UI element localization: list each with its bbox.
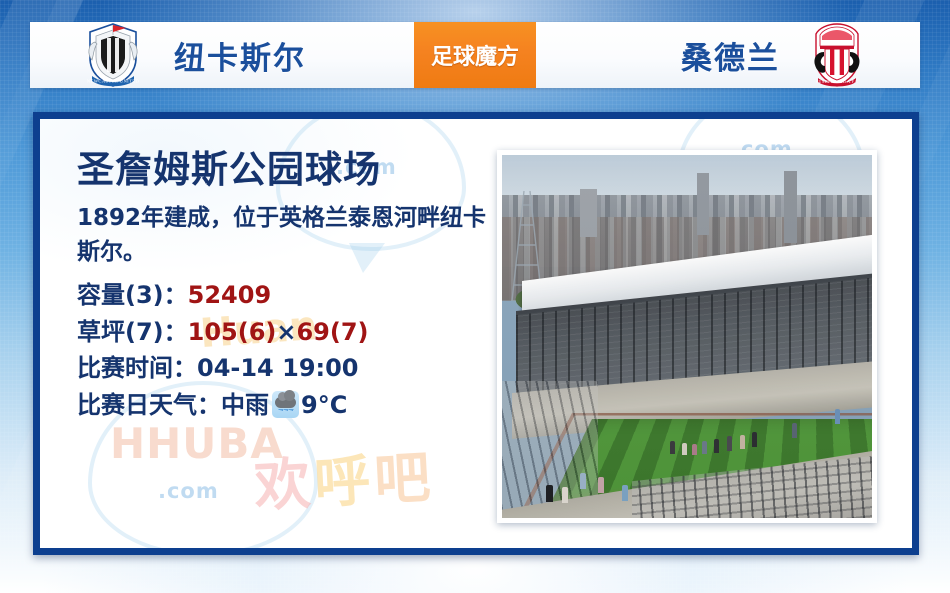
capacity-colon: ： — [164, 277, 188, 313]
newcastle-united-crest-icon: NEWCASTLE UNITED — [82, 22, 144, 88]
pitch-times-sign: × — [276, 314, 296, 350]
match-time-value: 04-14 19:00 — [197, 350, 359, 386]
pitch-row: 草坪(7) ： 105(6) × 69(7) — [77, 314, 497, 350]
moderate-rain-icon — [272, 391, 299, 418]
weather-colon: ： — [197, 387, 221, 423]
stadium-photo-frame: NEWCASTLE UNITED — [497, 150, 877, 523]
home-team-name: 纽卡斯尔 — [174, 33, 306, 78]
watermark-hhuba-text: HHUBA — [110, 419, 284, 468]
watermark-com-bottom: .com — [158, 479, 219, 503]
weather-label: 比赛日天气 — [77, 387, 197, 423]
svg-text:SUNDERLAND A.F.C: SUNDERLAND A.F.C — [816, 79, 858, 84]
svg-text:NEWCASTLE UNITED: NEWCASTLE UNITED — [87, 79, 140, 84]
capacity-label: 容量(3) — [77, 277, 164, 313]
weather-value: 中雨 — [221, 387, 269, 423]
sunderland-afc-crest-icon: SUNDERLAND A.F.C — [806, 22, 868, 88]
match-time-row: 比赛时间 ： 04-14 19:00 — [77, 350, 497, 386]
pitch-label: 草坪(7) — [77, 314, 164, 350]
watermark-brand-cn: 欢呼吧 — [252, 432, 436, 522]
site-logo-text: 足球魔方 — [431, 39, 519, 71]
capacity-row: 容量(3) ： 52409 — [77, 277, 497, 313]
home-team-block[interactable]: NEWCASTLE UNITED 纽卡斯尔 — [30, 22, 414, 88]
pitch-colon: ： — [164, 314, 188, 350]
site-logo[interactable]: 足球魔方 — [414, 22, 536, 88]
stadium-description: 1892年建成，位于英格兰泰恩河畔纽卡斯尔。 — [77, 202, 497, 269]
stadium-info-panel: .com .com Huan HHUBA .com 欢呼吧 圣詹姆斯公园球场 1… — [33, 112, 919, 555]
capacity-value: 52409 — [188, 277, 272, 313]
stadium-photo: NEWCASTLE UNITED — [502, 155, 872, 518]
panel-inner: .com .com Huan HHUBA .com 欢呼吧 圣詹姆斯公园球场 1… — [40, 119, 912, 548]
stadium-info-column: 圣詹姆斯公园球场 1892年建成，位于英格兰泰恩河畔纽卡斯尔。 容量(3) ： … — [77, 149, 497, 423]
away-team-block[interactable]: 桑德兰 SUNDERLAND A.F.C — [536, 22, 920, 88]
match-time-label: 比赛时间 — [77, 350, 173, 386]
watermark-hhuba: HHUBA — [110, 419, 284, 468]
pitch-length: 105(6) — [188, 314, 277, 350]
stadium-title: 圣詹姆斯公园球场 — [77, 149, 497, 190]
match-header-bar: NEWCASTLE UNITED 纽卡斯尔 足球魔方 桑德兰 — [30, 22, 920, 88]
away-team-name: 桑德兰 — [681, 33, 780, 78]
pitch-width: 69(7) — [296, 314, 368, 350]
photo-light-overlay — [502, 155, 872, 518]
match-time-colon: ： — [173, 350, 197, 386]
temperature-value: 9°C — [301, 387, 347, 423]
weather-row: 比赛日天气 ： 中雨 9°C — [77, 387, 497, 423]
